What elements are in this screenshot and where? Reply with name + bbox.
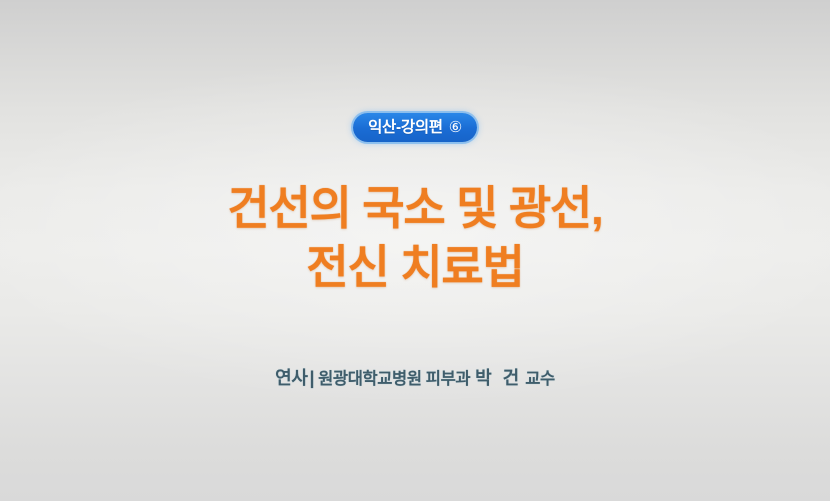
page-title-line-1: 건선의 국소 및 광선, [227,179,602,238]
series-badge: 익산-강의편 ⑥ [353,113,477,142]
speaker-affiliation: 원광대학교병원 피부과 [318,370,470,388]
badge-container: 익산-강의편 ⑥ [353,113,477,142]
speaker-separator: | [310,368,315,390]
speaker-role-label: 연사 [275,368,307,388]
page-title: 건선의 국소 및 광선, 전신 치료법 [227,179,602,297]
speaker-rank: 교수 [525,370,555,388]
series-badge-label: 익산-강의편 [368,120,443,136]
speaker-name: 박 건 [475,368,522,388]
title-slide: 익산-강의편 ⑥ 건선의 국소 및 광선, 전신 치료법 연사|원광대학교병원 … [0,0,830,501]
series-badge-number: ⑥ [449,120,462,135]
page-title-line-2: 전신 치료법 [227,238,602,297]
speaker-line: 연사|원광대학교병원 피부과박 건교수 [275,368,555,390]
slide-content: 익산-강의편 ⑥ 건선의 국소 및 광선, 전신 치료법 연사|원광대학교병원 … [0,0,830,501]
